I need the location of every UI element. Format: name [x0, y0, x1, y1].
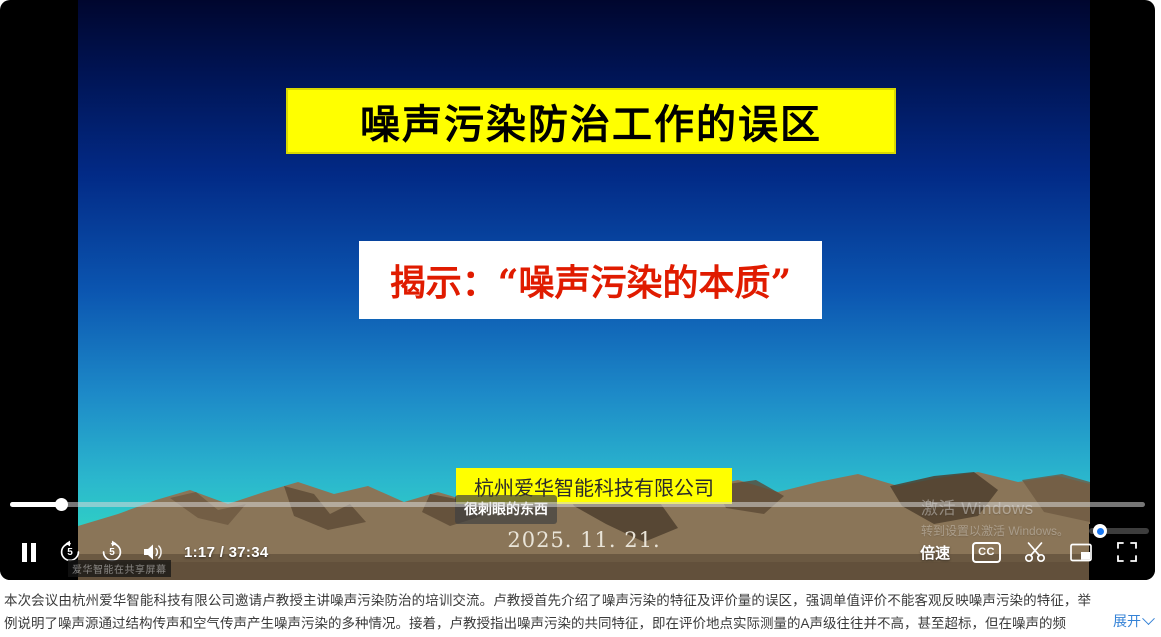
player-controls[interactable]: 5 5 [0, 524, 1155, 580]
secondary-slider-handle[interactable] [1093, 524, 1107, 538]
slide-subtitle-box: 揭示：“噪声污染的本质” [359, 241, 822, 319]
playback-speed-button[interactable]: 倍速 [920, 542, 950, 563]
secondary-slider[interactable] [1089, 528, 1149, 534]
picture-in-picture-icon[interactable] [1069, 540, 1093, 564]
pip-glyph [1070, 543, 1092, 562]
video-frame[interactable]: 噪声污染防治工作的误区 揭示：“噪声污染的本质” 杭州爱华智能科技有限公司 20… [78, 0, 1090, 580]
time-display: 1:17 / 37:34 [184, 544, 269, 561]
fullscreen-glyph [1117, 542, 1137, 562]
progress-bar[interactable] [10, 502, 1145, 507]
scissors-glyph [1024, 541, 1046, 563]
expand-description-button[interactable]: 展开 [1101, 610, 1153, 633]
volume-glyph [142, 542, 166, 562]
video-description: 本次会议由杭州爱华智能科技有限公司邀请卢教授主讲噪声污染防治的培训交流。卢教授首… [0, 586, 1161, 637]
slide-title: 噪声污染防治工作的误区 [360, 92, 822, 150]
pause-glyph [21, 543, 37, 562]
expand-label: 展开 [1113, 610, 1141, 633]
slide-subtitle: 揭示：“噪声污染的本质” [390, 254, 791, 306]
fullscreen-icon[interactable] [1115, 540, 1139, 564]
screen-share-watermark: 爱华智能在共享屏幕 [68, 560, 171, 577]
video-player[interactable]: 噪声污染防治工作的误区 揭示：“噪声污染的本质” 杭州爱华智能科技有限公司 20… [0, 0, 1155, 580]
scissors-icon[interactable] [1023, 540, 1047, 564]
chevron-down-icon [1142, 612, 1155, 625]
secondary-slider-dot [1097, 528, 1104, 535]
pause-icon[interactable] [18, 541, 40, 563]
progress-bar-handle[interactable] [55, 498, 68, 511]
slide-title-box: 噪声污染防治工作的误区 [286, 88, 896, 154]
caption-bubble: 很刺眼的东西 [455, 495, 557, 524]
cc-button[interactable]: CC [972, 542, 1001, 563]
description-text: 本次会议由杭州爱华智能科技有限公司邀请卢教授主讲噪声污染防治的培训交流。卢教授首… [4, 589, 1161, 635]
